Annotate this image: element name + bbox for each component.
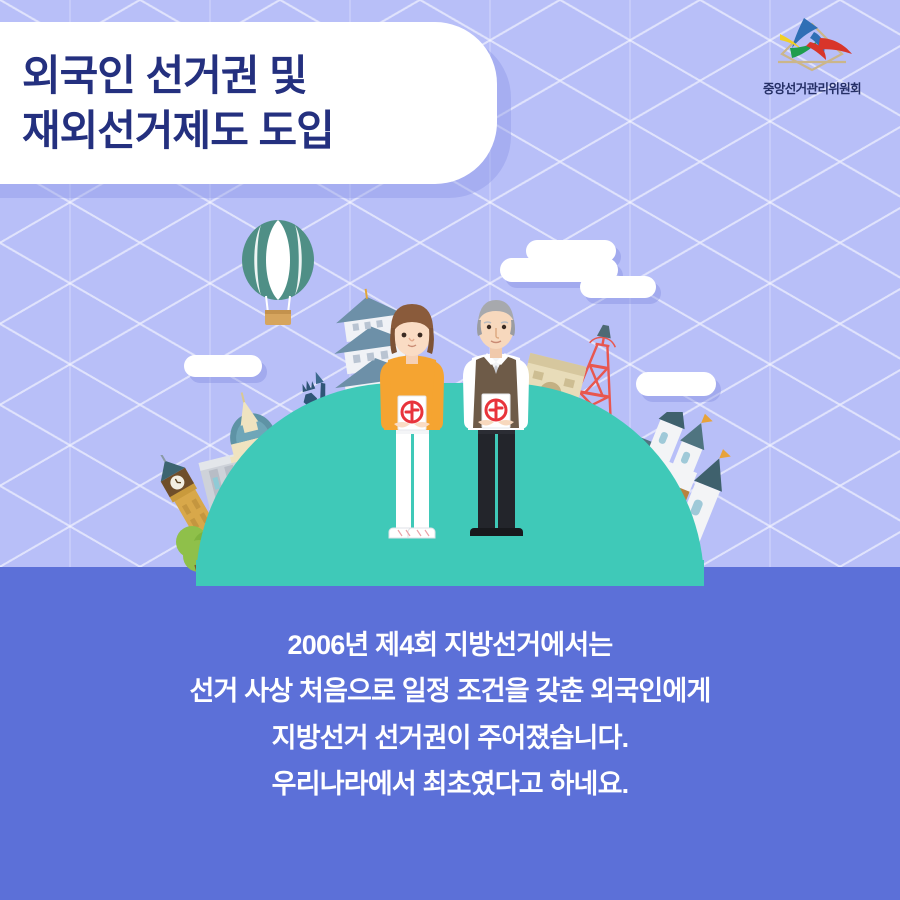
cloud-mid-right — [636, 372, 716, 396]
cloud-left — [184, 355, 262, 377]
body-line-4: 우리나라에서 최초였다고 하네요. — [0, 761, 900, 807]
nec-logo: 중앙선거관리위원회 — [742, 14, 882, 97]
globe-hill-base — [196, 560, 704, 586]
woman-voter — [376, 300, 448, 548]
man-voter — [458, 296, 534, 546]
body-line-1: 2006년 제4회 지방선거에서는 — [0, 622, 900, 668]
body-copy: 2006년 제4회 지방선거에서는 선거 사상 처음으로 일정 조건을 갖춘 외… — [0, 622, 900, 808]
body-line-2: 선거 사상 처음으로 일정 조건을 갖춘 외국인에게 — [0, 668, 900, 714]
hot-air-balloon-icon — [232, 218, 324, 328]
nec-logo-label: 중앙선거관리위원회 — [742, 78, 882, 97]
page-title-line-2: 재외선거제도 도입 — [22, 103, 497, 158]
page-title-line-1: 외국인 선거권 및 — [22, 48, 497, 103]
infographic-card: 외국인 선거권 및 재외선거제도 도입 중앙선거관리위원회 2006년 제4회 … — [0, 0, 900, 900]
title-card: 외국인 선거권 및 재외선거제도 도입 — [0, 22, 497, 184]
cloud-small-right — [580, 276, 656, 298]
nec-bird-logo-icon — [764, 14, 860, 76]
body-line-3: 지방선거 선거권이 주어졌습니다. — [0, 715, 900, 761]
